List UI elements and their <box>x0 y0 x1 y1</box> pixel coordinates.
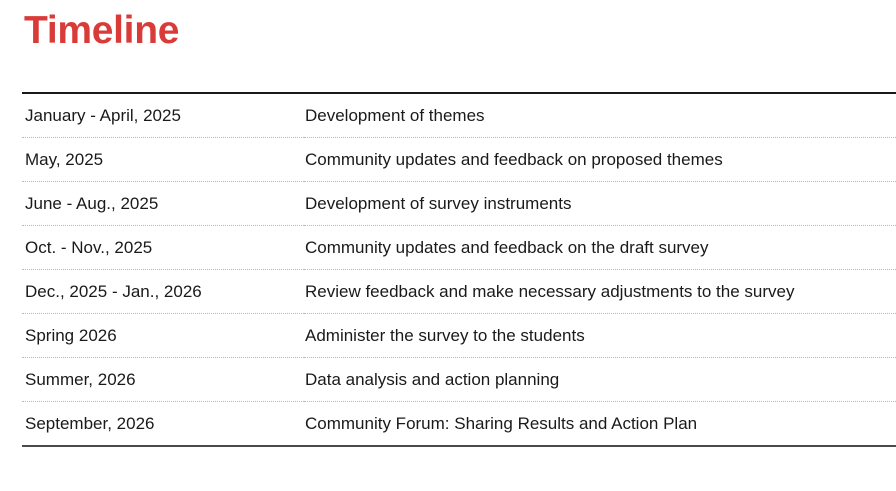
timeline-row: May, 2025Community updates and feedback … <box>22 138 896 182</box>
timeline-period: Spring 2026 <box>22 314 304 358</box>
timeline-row: January - April, 2025Development of them… <box>22 93 896 138</box>
timeline-row: Oct. - Nov., 2025Community updates and f… <box>22 226 896 270</box>
timeline-activity: Administer the survey to the students <box>304 314 896 358</box>
timeline-period: Dec., 2025 - Jan., 2026 <box>22 270 304 314</box>
timeline-activity: Development of themes <box>304 93 896 138</box>
timeline-activity-highlighted: Community Forum: Sharing Results and Act… <box>304 402 896 447</box>
timeline-row: Summer, 2026Data analysis and action pla… <box>22 358 896 402</box>
timeline-activity: Review feedback and make necessary adjus… <box>304 270 896 314</box>
timeline-activity-highlighted: Community updates and feedback on propos… <box>304 138 896 182</box>
timeline-period: June - Aug., 2025 <box>22 182 304 226</box>
timeline-row: September, 2026Community Forum: Sharing … <box>22 402 896 447</box>
timeline-table-body: January - April, 2025Development of them… <box>22 93 896 446</box>
timeline-period: Summer, 2026 <box>22 358 304 402</box>
timeline-period: September, 2026 <box>22 402 304 447</box>
timeline-period: Oct. - Nov., 2025 <box>22 226 304 270</box>
timeline-period: January - April, 2025 <box>22 93 304 138</box>
timeline-period: May, 2025 <box>22 138 304 182</box>
timeline-slide: Timeline January - April, 2025Developmen… <box>0 0 896 491</box>
timeline-row: Dec., 2025 - Jan., 2026Review feedback a… <box>22 270 896 314</box>
timeline-activity: Development of survey instruments <box>304 182 896 226</box>
timeline-table: January - April, 2025Development of them… <box>22 92 896 447</box>
timeline-activity: Data analysis and action planning <box>304 358 896 402</box>
timeline-activity-highlighted: Community updates and feedback on the dr… <box>304 226 896 270</box>
timeline-row: June - Aug., 2025Development of survey i… <box>22 182 896 226</box>
timeline-row: Spring 2026Administer the survey to the … <box>22 314 896 358</box>
page-title: Timeline <box>24 8 179 54</box>
